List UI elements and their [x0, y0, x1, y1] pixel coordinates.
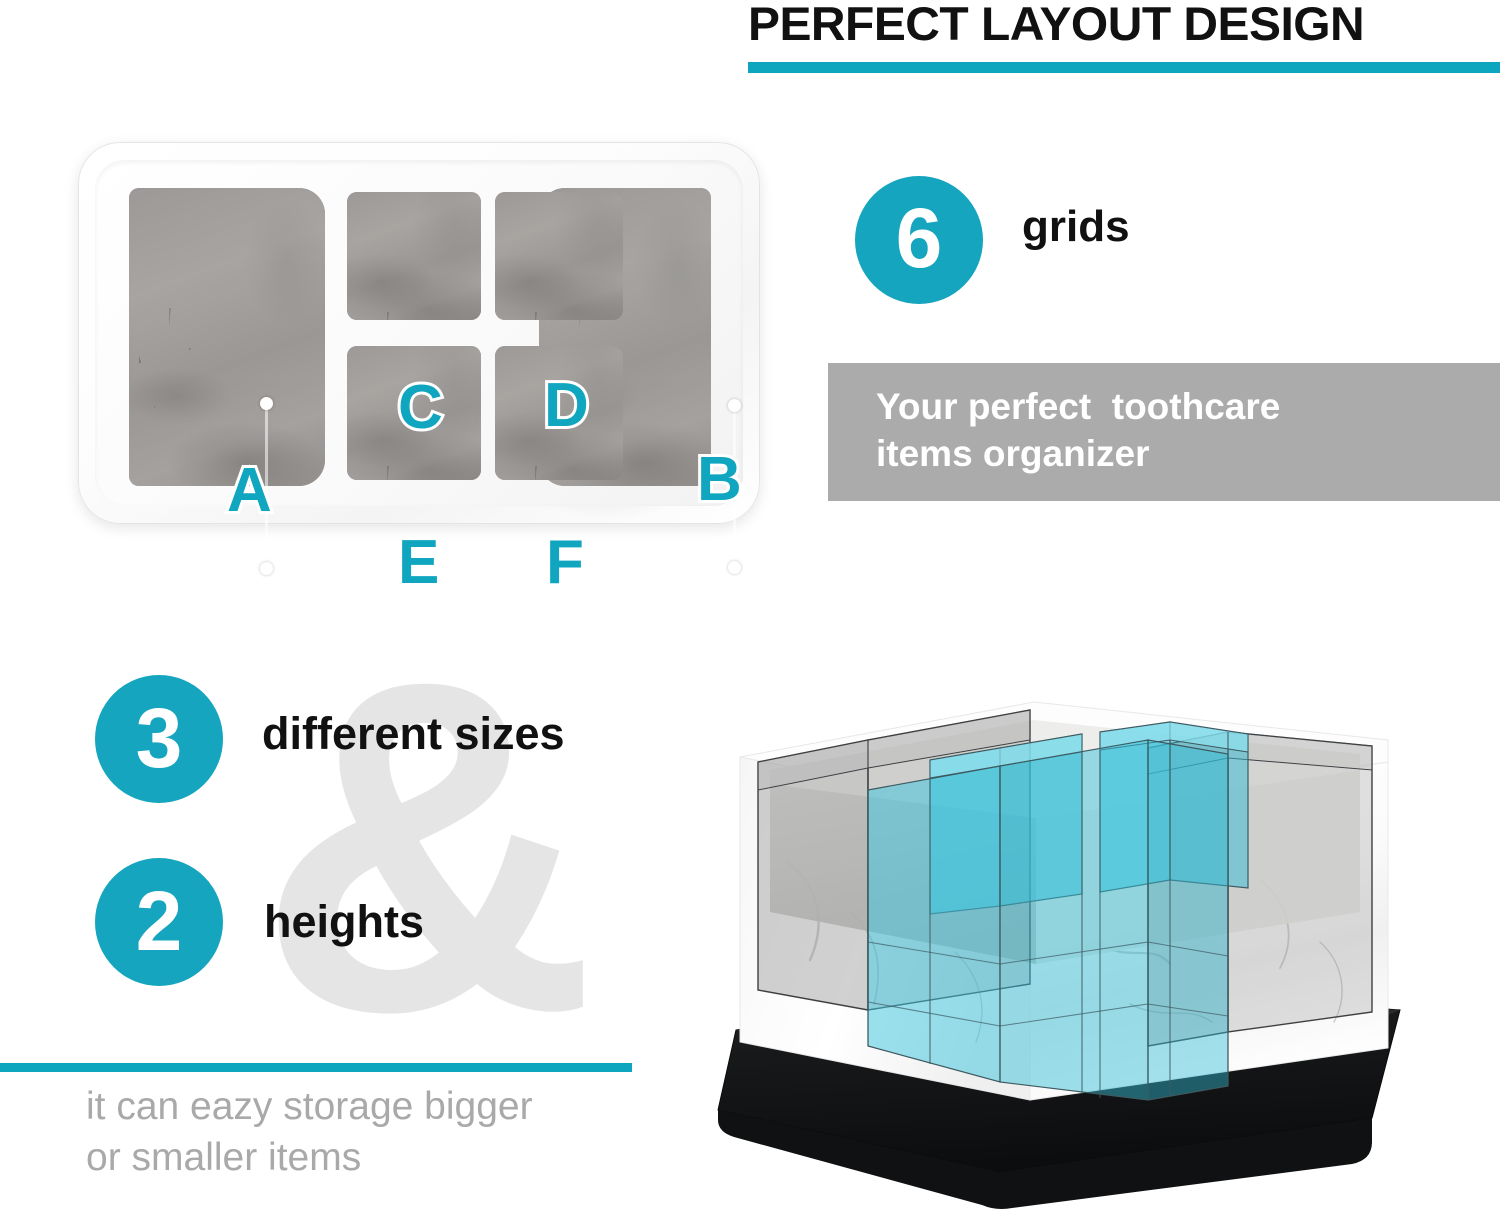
- sizes-count-badge: 3: [95, 675, 223, 803]
- marble-texture: [347, 346, 481, 480]
- cell-b-hole-bottom: [728, 561, 741, 574]
- footer-accent-rule: [0, 1063, 632, 1072]
- header-accent-rule: [748, 62, 1500, 73]
- marble-texture: [129, 188, 325, 486]
- cell-a-hole-top: [260, 397, 273, 410]
- sizes-count-number: 3: [136, 696, 183, 780]
- heights-count-badge: 2: [95, 858, 223, 986]
- tray-cell-e: [347, 346, 481, 480]
- tray-topdown-illustration: A B C D E F: [78, 142, 760, 524]
- grids-count-badge: 6: [855, 176, 983, 304]
- sizes-label: different sizes: [262, 708, 565, 760]
- tray-cell-f: [495, 346, 623, 480]
- tray-inner-basin: [95, 160, 743, 506]
- tray-cell-a: [129, 188, 325, 486]
- tray-cell-c: [347, 192, 481, 320]
- tray-outer-shell: [78, 142, 760, 524]
- tagline-text: Your perfect toothcare items organizer: [876, 383, 1476, 478]
- heights-count-number: 2: [136, 879, 183, 963]
- grids-count-label: grids: [1022, 202, 1130, 252]
- cell-a-depth-line: [265, 403, 268, 566]
- product-3d-svg: [700, 612, 1500, 1218]
- cell-b-hole-top: [728, 399, 741, 412]
- product-3d-illustration: [700, 612, 1500, 1218]
- cell-a-hole-bottom: [260, 562, 273, 575]
- heights-label: heights: [264, 896, 424, 948]
- footer-caption: it can eazy storage bigger or smaller it…: [86, 1081, 646, 1184]
- tray-cell-d: [495, 192, 623, 320]
- marble-texture: [347, 192, 481, 320]
- page-title: PERFECT LAYOUT DESIGN: [748, 0, 1500, 51]
- tagline-box: Your perfect toothcare items organizer: [828, 363, 1500, 501]
- marble-texture: [495, 192, 623, 320]
- grids-count-number: 6: [896, 196, 943, 280]
- ampersand-decoration: &: [258, 612, 597, 1082]
- marble-texture: [495, 346, 623, 480]
- cell-b-depth-line: [733, 405, 736, 565]
